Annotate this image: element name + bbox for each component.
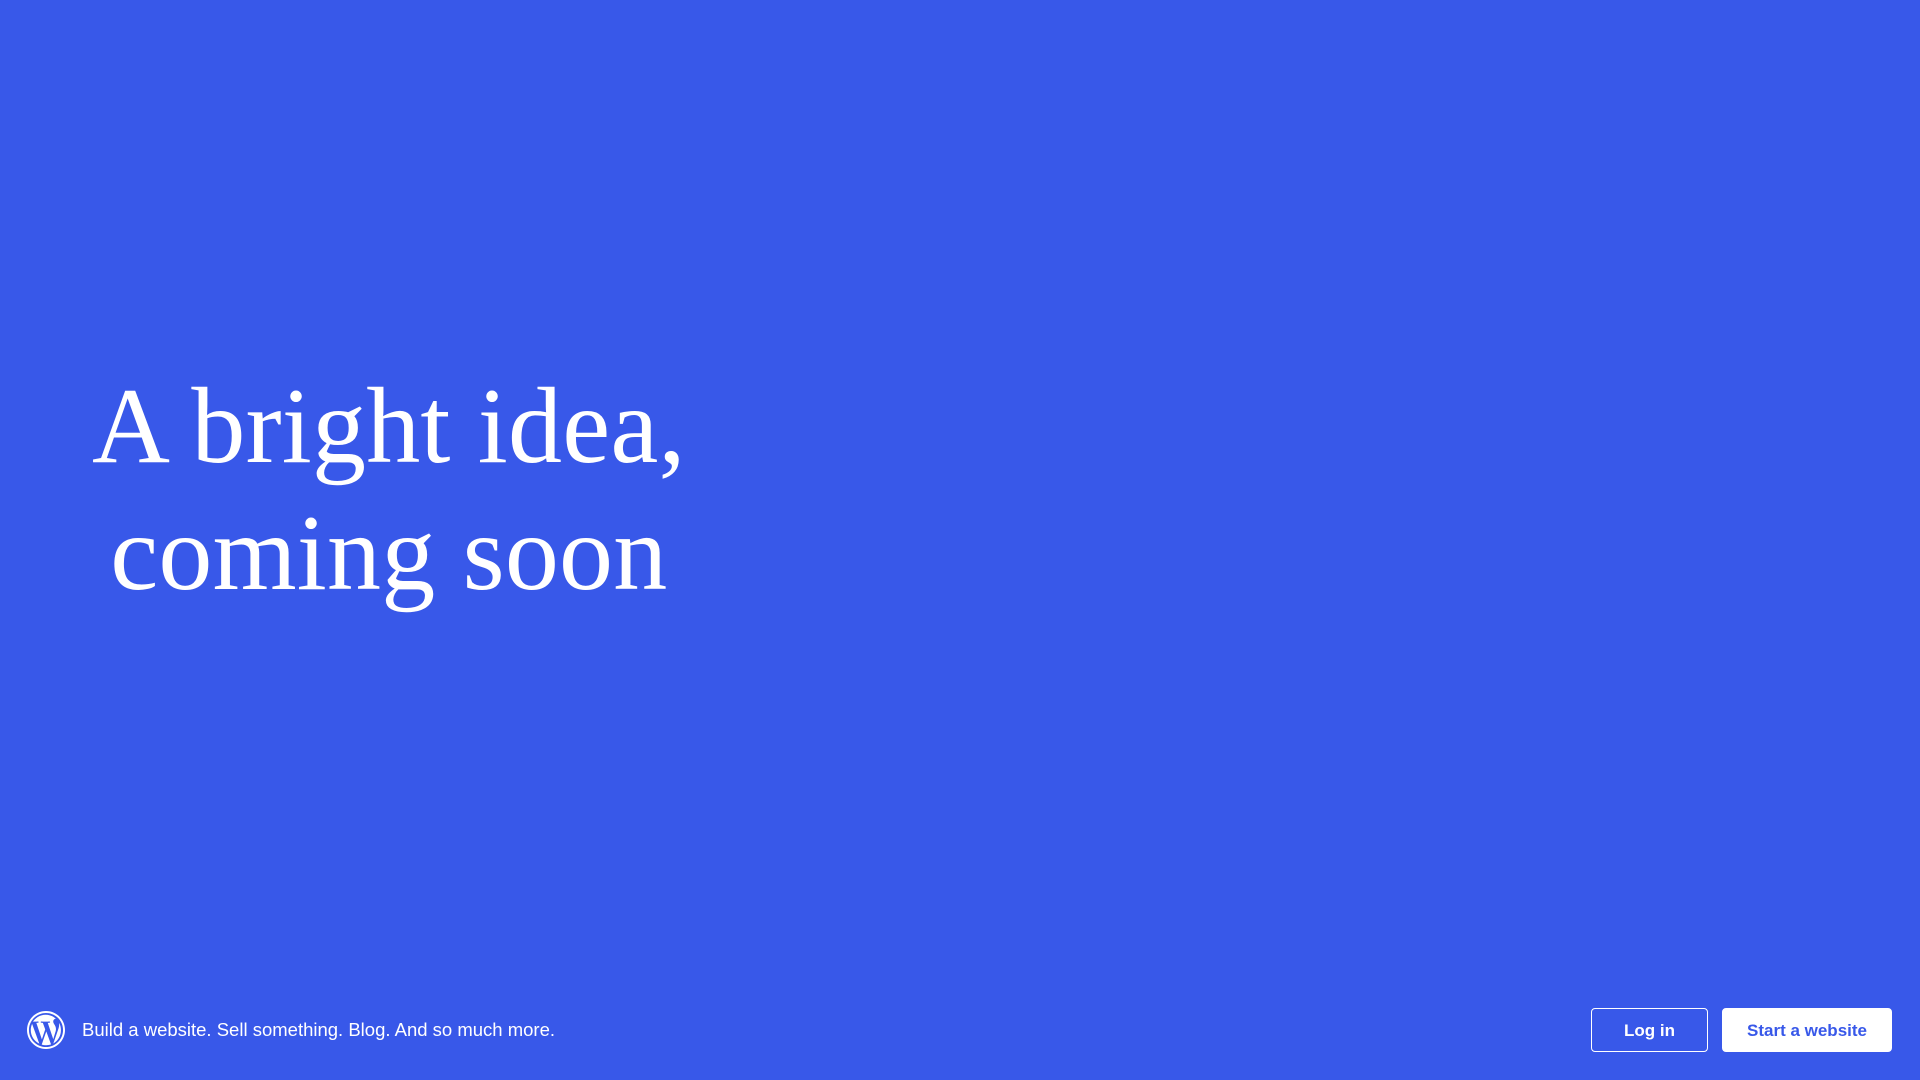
footer-actions: Log in Start a website — [1591, 1008, 1892, 1052]
footer-bar: Build a website. Sell something. Blog. A… — [0, 980, 1920, 1080]
footer-tagline: Build a website. Sell something. Blog. A… — [82, 1019, 555, 1041]
log-in-button[interactable]: Log in — [1591, 1008, 1708, 1052]
coming-soon-page: A bright idea, coming soon Build a websi… — [0, 0, 1920, 1080]
hero-section: A bright idea, coming soon — [0, 0, 1920, 980]
wordpress-logo-icon — [27, 1011, 65, 1049]
start-a-website-button[interactable]: Start a website — [1722, 1008, 1892, 1052]
footer-branding: Build a website. Sell something. Blog. A… — [27, 1011, 555, 1049]
hero-content: A bright idea, coming soon — [92, 363, 686, 618]
page-title: A bright idea, coming soon — [92, 363, 686, 618]
